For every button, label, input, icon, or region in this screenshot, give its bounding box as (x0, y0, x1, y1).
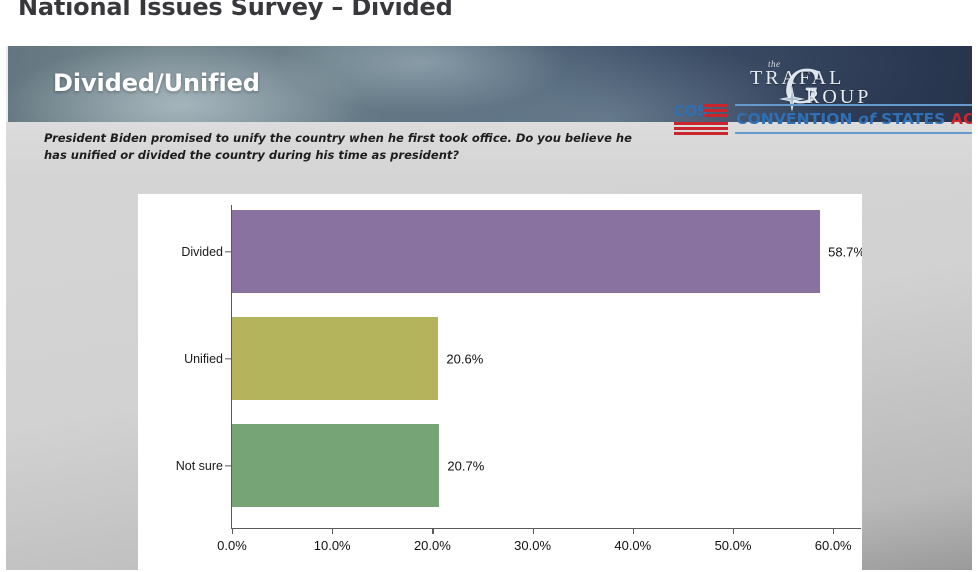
bar-unified: Unified20.6% (232, 317, 438, 400)
x-axis-tick-label: 40.0% (614, 538, 651, 553)
cos-word-action: ACTION (951, 110, 972, 128)
x-axis-tick-label: 60.0% (815, 538, 852, 553)
flag-stripe (674, 122, 728, 125)
x-axis-tick (432, 528, 433, 534)
bar-category-label: Divided (181, 245, 223, 259)
cos-flag-mark: COS (674, 103, 728, 135)
cos-wordmark: CONVENTION of STATES ACTION (736, 110, 972, 128)
y-axis-tick (225, 358, 231, 359)
flag-stripe (674, 127, 728, 130)
cos-rule-top (735, 104, 972, 106)
page-title: National Issues Survey – Divided (18, 0, 453, 21)
x-axis-tick-label: 0.0% (217, 538, 247, 553)
survey-slide: Divided/Unified the TRAFAL G ROUP Presid… (6, 46, 972, 570)
screenshot-root: National Issues Survey – Divided Divided… (0, 0, 978, 572)
y-axis-tick (225, 465, 231, 466)
banner-title: Divided/Unified (53, 69, 260, 97)
flag-stripe (703, 104, 728, 107)
flag-stripe (703, 109, 728, 112)
bar-not-sure: Not sure20.7% (232, 424, 439, 507)
x-axis-tick (232, 528, 233, 534)
x-axis-tick (733, 528, 734, 534)
cos-word-convention: CONVENTION (736, 110, 853, 128)
bar-value-label: 20.6% (446, 351, 483, 366)
bar-value-label: 20.7% (447, 458, 484, 473)
y-axis-tick (225, 251, 231, 252)
bar-category-label: Unified (184, 352, 223, 366)
x-axis-tick-label: 20.0% (414, 538, 451, 553)
bar-divided: Divided58.7% (232, 210, 820, 293)
cos-word-states: STATES (881, 110, 945, 128)
chart-panel: Divided58.7%Unified20.6%Not sure20.7%0.0… (138, 194, 862, 570)
x-axis-line (231, 528, 861, 529)
cos-rule-bottom (735, 132, 972, 134)
x-axis-tick (833, 528, 834, 534)
survey-question-text: President Biden promised to unify the co… (44, 130, 654, 165)
flag-stripe (703, 114, 728, 117)
x-axis-tick-label: 50.0% (715, 538, 752, 553)
cos-word-of: of (858, 110, 876, 128)
cos-monogram-text: COS (674, 103, 702, 120)
convention-of-states-action-logo: COS CONVENTION of STATES ACTION (674, 102, 972, 140)
bar-chart-plot: Divided58.7%Unified20.6%Not sure20.7%0.0… (138, 194, 862, 570)
flag-stripe (674, 132, 728, 135)
x-axis-tick-label: 10.0% (314, 538, 351, 553)
x-axis-tick-label: 30.0% (514, 538, 551, 553)
bar-value-label: 58.7% (828, 244, 862, 259)
bar-category-label: Not sure (176, 459, 223, 473)
x-axis-tick (332, 528, 333, 534)
x-axis-tick (533, 528, 534, 534)
x-axis-tick (633, 528, 634, 534)
